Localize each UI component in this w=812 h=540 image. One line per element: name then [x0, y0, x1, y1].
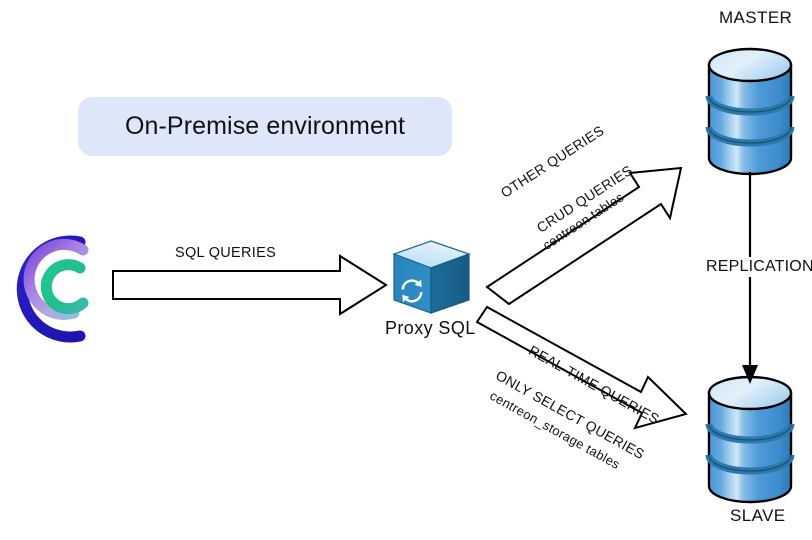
replication-label: REPLICATION	[706, 257, 812, 277]
on-premise-box: On-Premise environment	[78, 97, 452, 156]
arrow-sql-queries	[113, 256, 386, 314]
proxy-sql-icon	[394, 241, 469, 313]
proxy-sql-label: Proxy SQL	[385, 318, 476, 339]
arrow-replication	[742, 172, 758, 384]
slave-label: SLAVE	[730, 506, 786, 526]
sql-queries-label: SQL QUERIES	[175, 245, 276, 261]
centreon-logo	[22, 241, 83, 337]
master-db-icon	[709, 49, 791, 174]
on-premise-label: On-Premise environment	[125, 112, 405, 141]
diagram-canvas	[0, 0, 812, 540]
slave-db-icon	[709, 377, 791, 502]
master-label: MASTER	[719, 8, 792, 28]
